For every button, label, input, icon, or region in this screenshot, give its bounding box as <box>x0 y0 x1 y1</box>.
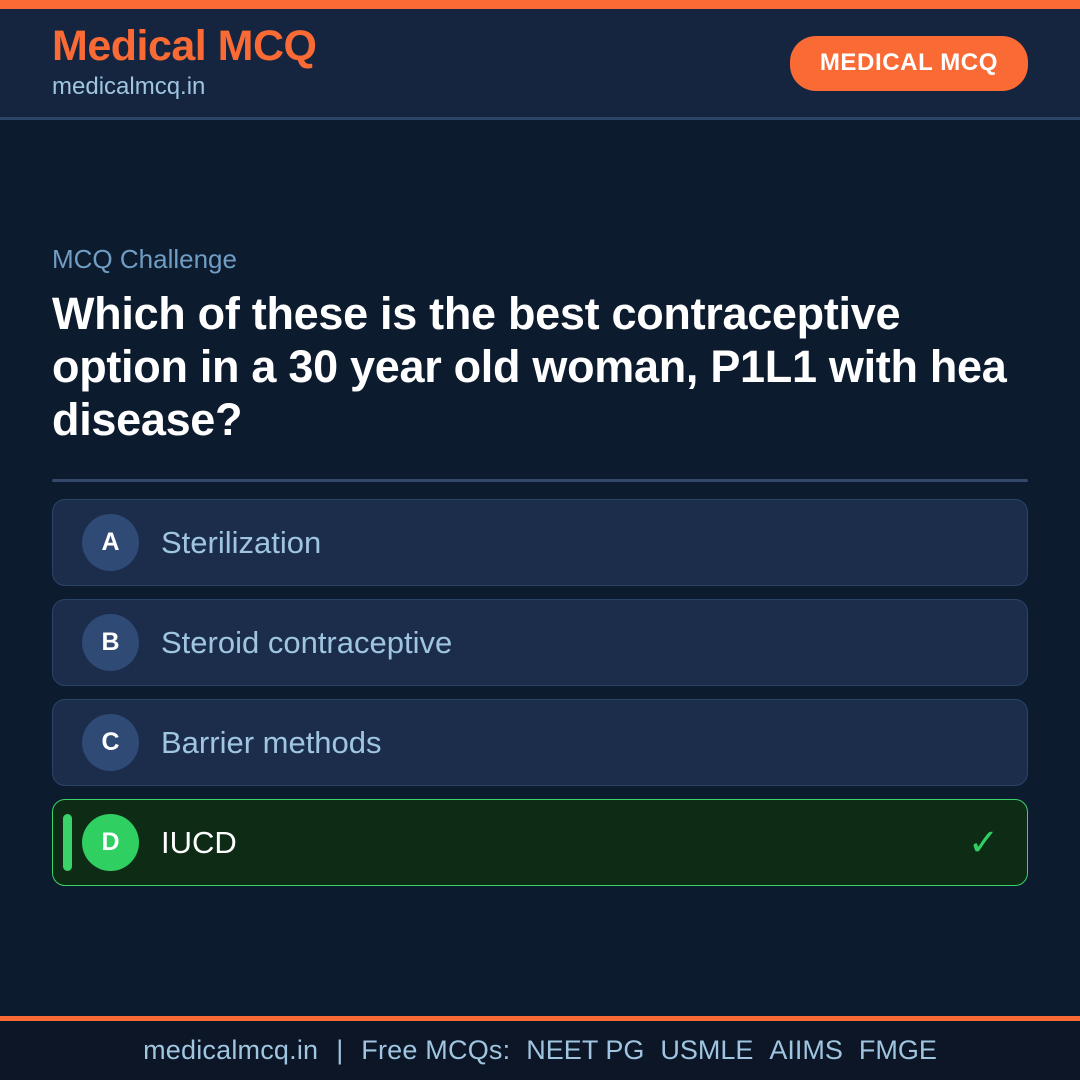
footer-tag-fmge: FMGE <box>859 1035 937 1066</box>
brand-block: Medical MCQ medicalmcq.in <box>52 24 317 102</box>
question-divider <box>52 479 1028 482</box>
footer-site: medicalmcq.in <box>143 1035 318 1066</box>
option-letter-badge: C <box>82 714 139 771</box>
option-letter-badge: A <box>82 514 139 571</box>
header-badge: MEDICAL MCQ <box>790 36 1028 91</box>
footer: medicalmcq.in | Free MCQs: NEET PG USMLE… <box>0 1016 1080 1080</box>
footer-tag-aiims: AIIMS <box>769 1035 859 1066</box>
header: Medical MCQ medicalmcq.in MEDICAL MCQ <box>0 9 1080 120</box>
footer-prefix: Free MCQs: <box>361 1035 526 1066</box>
footer-tag-usmle: USMLE <box>660 1035 769 1066</box>
option-label: Barrier methods <box>161 726 968 760</box>
option-b[interactable]: B Steroid contraceptive ✓ <box>52 599 1028 686</box>
top-accent-bar <box>0 0 1080 9</box>
option-letter-badge: D <box>82 814 139 871</box>
question-text: Which of these is the best contraceptive… <box>52 287 1028 446</box>
mcq-card: Medical MCQ medicalmcq.in MEDICAL MCQ MC… <box>0 0 1080 1080</box>
option-c[interactable]: C Barrier methods ✓ <box>52 699 1028 786</box>
footer-tag-neetpg: NEET PG <box>526 1035 660 1066</box>
option-label: Sterilization <box>161 526 968 560</box>
main-content: MCQ Challenge Which of these is the best… <box>0 120 1080 1016</box>
brand-subtitle: medicalmcq.in <box>52 72 317 102</box>
brand-title: Medical MCQ <box>52 24 317 70</box>
correct-accent-bar <box>63 814 72 871</box>
option-d-correct[interactable]: D IUCD ✓ <box>52 799 1028 886</box>
option-a[interactable]: A Sterilization ✓ <box>52 499 1028 586</box>
options-list: A Sterilization ✓ B Steroid contraceptiv… <box>52 499 1028 886</box>
option-letter-badge: B <box>82 614 139 671</box>
footer-separator: | <box>318 1035 361 1066</box>
option-label: Steroid contraceptive <box>161 626 968 660</box>
option-label: IUCD <box>161 826 968 860</box>
kicker-label: MCQ Challenge <box>52 244 1028 275</box>
check-icon: ✓ <box>968 824 999 861</box>
